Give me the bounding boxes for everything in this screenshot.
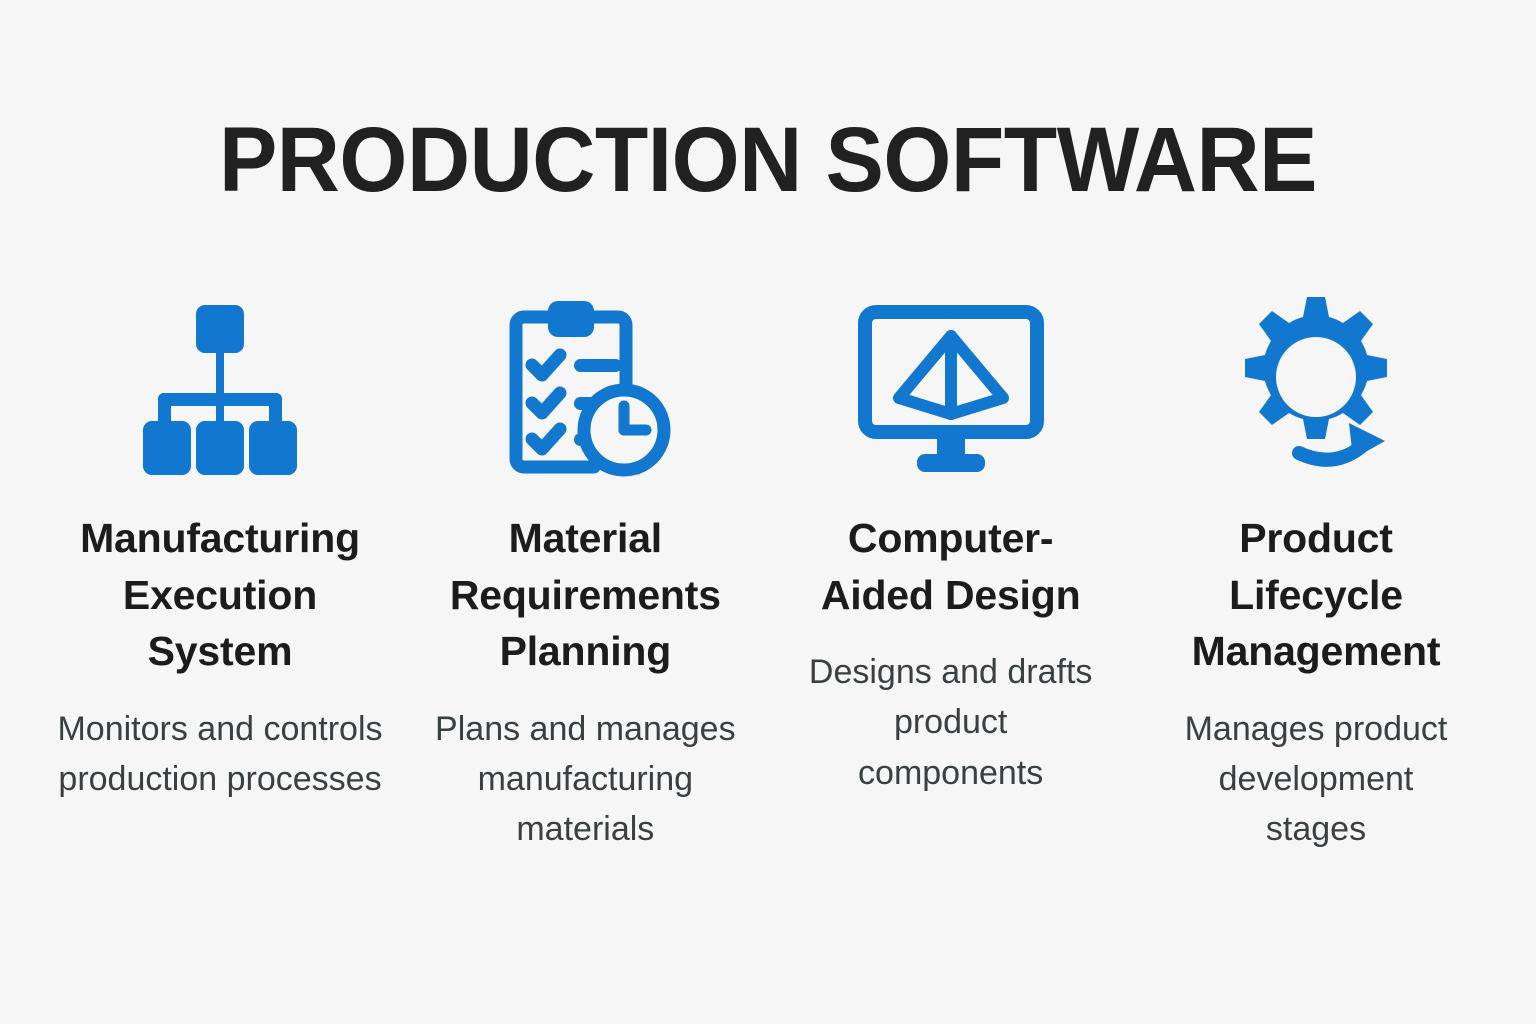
card-heading: Manufacturing Execution System — [55, 510, 385, 680]
card-description: Plans and mana­ges manufactu­ring materi… — [420, 704, 750, 855]
card-computer-aided-design: Computer-Aided Design Designs and drafts… — [779, 288, 1123, 798]
card-description: Monitors and controls production process… — [55, 704, 385, 805]
hierarchy-icon — [120, 288, 320, 488]
card-manufacturing-execution-system: Manufacturing Execution System Monitors … — [48, 288, 392, 804]
card-heading: Material Requirements Planning — [420, 510, 750, 680]
card-description: Designs and drafts product components — [806, 647, 1096, 798]
clipboard-checklist-clock-icon — [485, 288, 685, 488]
card-heading: Computer-Aided Design — [821, 510, 1081, 623]
page-title: PRODUCTION SOFTWARE — [38, 112, 1497, 209]
card-product-lifecycle-management: Product Lifecycle Management Manages pro… — [1144, 288, 1488, 855]
card-heading: Product Lifecycle Management — [1158, 510, 1473, 680]
infographic-page: PRODUCTION SOFTWARE — [0, 0, 1536, 1024]
card-material-requirements-planning: Material Requirements Planning Plans and… — [413, 288, 757, 855]
card-description: Manages product development stages — [1176, 704, 1456, 855]
gear-arrow-icon — [1216, 288, 1416, 488]
monitor-pyramid-icon — [851, 288, 1051, 488]
cards-row: Manufacturing Execution System Monitors … — [48, 288, 1488, 855]
